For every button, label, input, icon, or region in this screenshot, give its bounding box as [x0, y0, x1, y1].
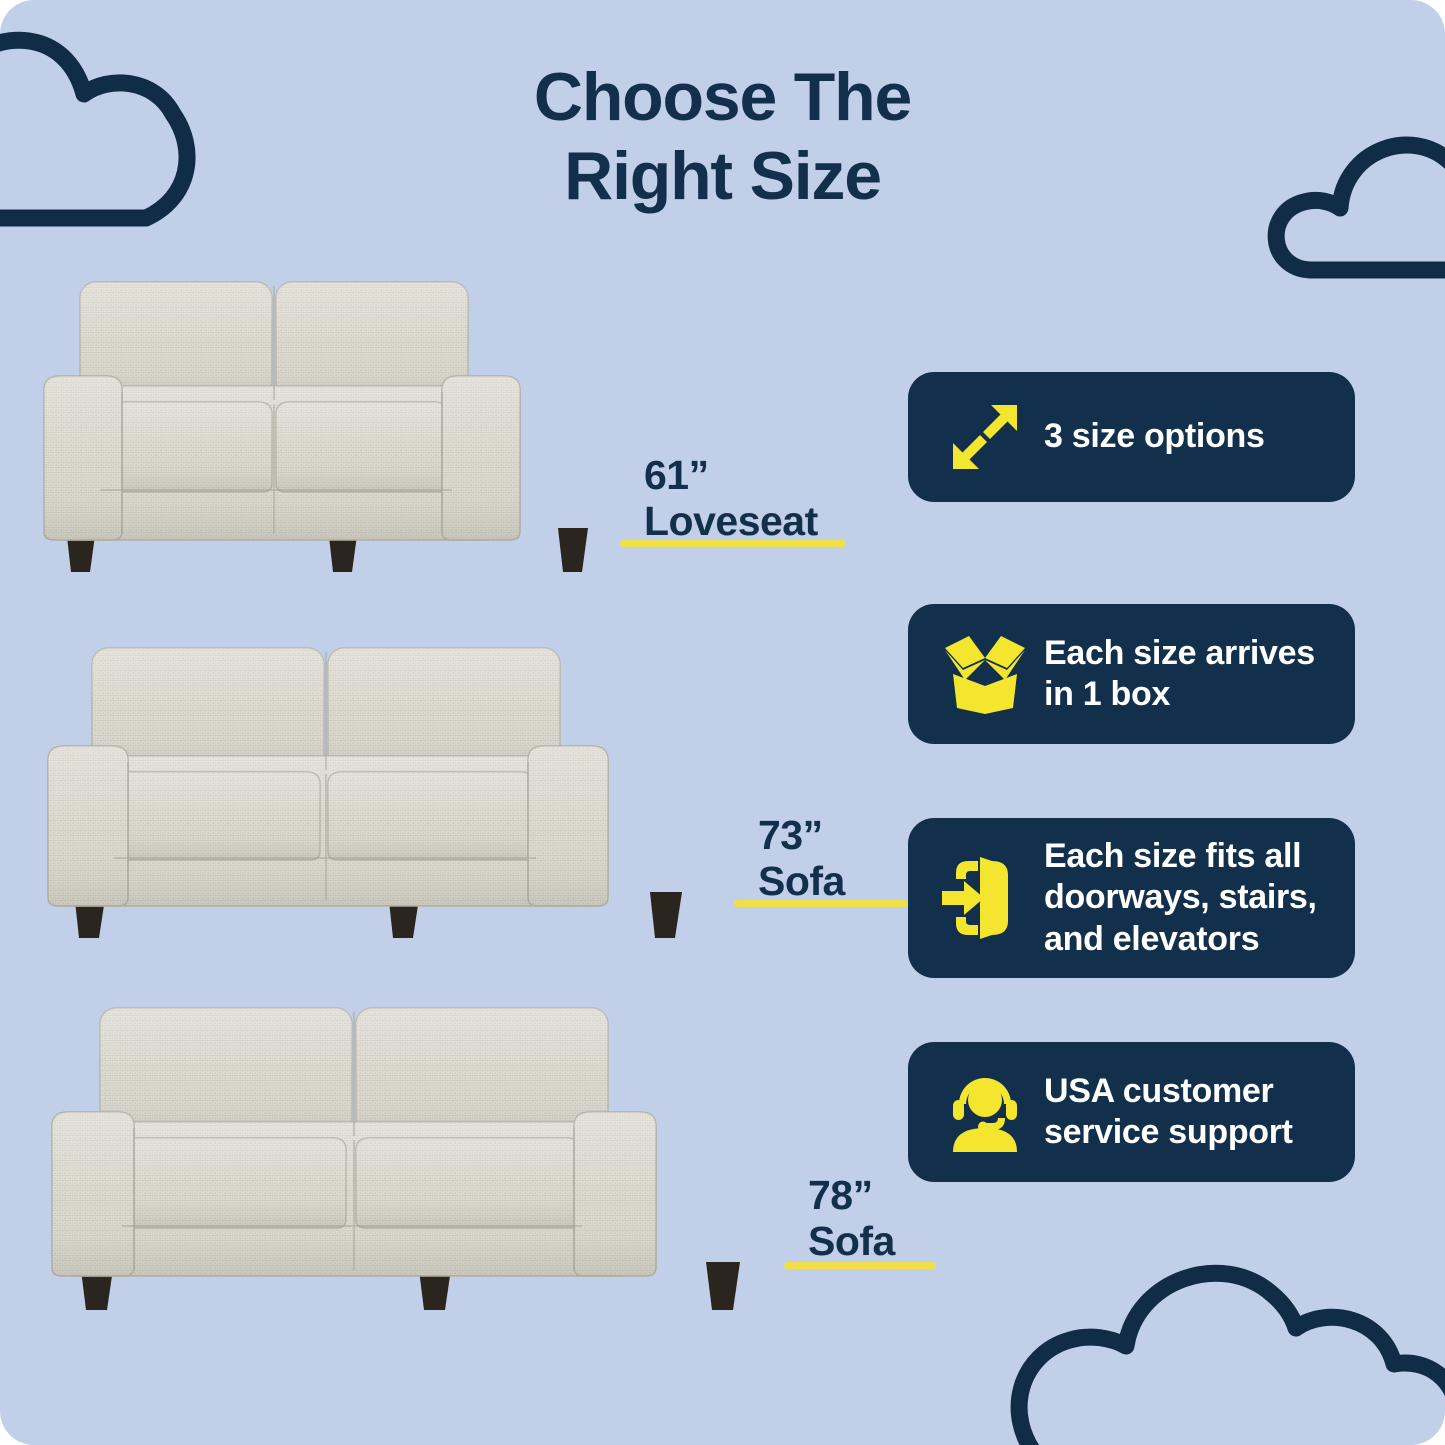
size-kind: Loveseat [644, 498, 818, 544]
feature-badge-customer-support[interactable]: USA customer service support [908, 1042, 1355, 1182]
size-label-loveseat-61: 61” Loveseat [644, 452, 818, 545]
expand-arrows-icon [942, 394, 1028, 480]
feature-badge-fits-doorways[interactable]: Each size fits all doorways, stairs, and… [908, 818, 1355, 978]
size-kind: Sofa [808, 1218, 895, 1264]
cloud-outline-icon [1008, 1258, 1445, 1445]
size-dimension: 78” [808, 1172, 895, 1218]
sofa-medium-icon [40, 640, 760, 980]
size-underline [734, 900, 908, 907]
open-box-icon [942, 631, 1028, 717]
size-label-sofa-73: 73” Sofa [758, 812, 845, 905]
feature-badge-size-options[interactable]: 3 size options [908, 372, 1355, 502]
headset-agent-icon [942, 1069, 1028, 1155]
title-line-1: Choose The [0, 58, 1445, 137]
infographic-canvas: Choose The Right Size [0, 0, 1445, 1445]
size-underline [784, 1262, 936, 1269]
product-row-sofa-73: 73” Sofa [40, 640, 760, 985]
feature-badge-text: USA customer service support [1044, 1071, 1293, 1154]
size-dimension: 73” [758, 812, 845, 858]
door-entry-icon [942, 855, 1028, 941]
product-row-sofa-78: 78” Sofa [42, 1000, 822, 1355]
page-title: Choose The Right Size [0, 58, 1445, 216]
feature-badge-one-box[interactable]: Each size arrives in 1 box [908, 604, 1355, 744]
feature-badge-text: Each size arrives in 1 box [1044, 633, 1315, 716]
size-underline [620, 540, 846, 547]
sofa-large-icon [42, 1000, 822, 1350]
sofa-loveseat-icon [38, 272, 638, 617]
size-kind: Sofa [758, 858, 845, 904]
size-label-sofa-78: 78” Sofa [808, 1172, 895, 1265]
title-line-2: Right Size [0, 137, 1445, 216]
feature-badge-text: Each size fits all doorways, stairs, and… [1044, 836, 1317, 960]
feature-badge-text: 3 size options [1044, 416, 1265, 457]
size-dimension: 61” [644, 452, 818, 498]
product-row-loveseat-61: 61” Loveseat [38, 272, 638, 622]
